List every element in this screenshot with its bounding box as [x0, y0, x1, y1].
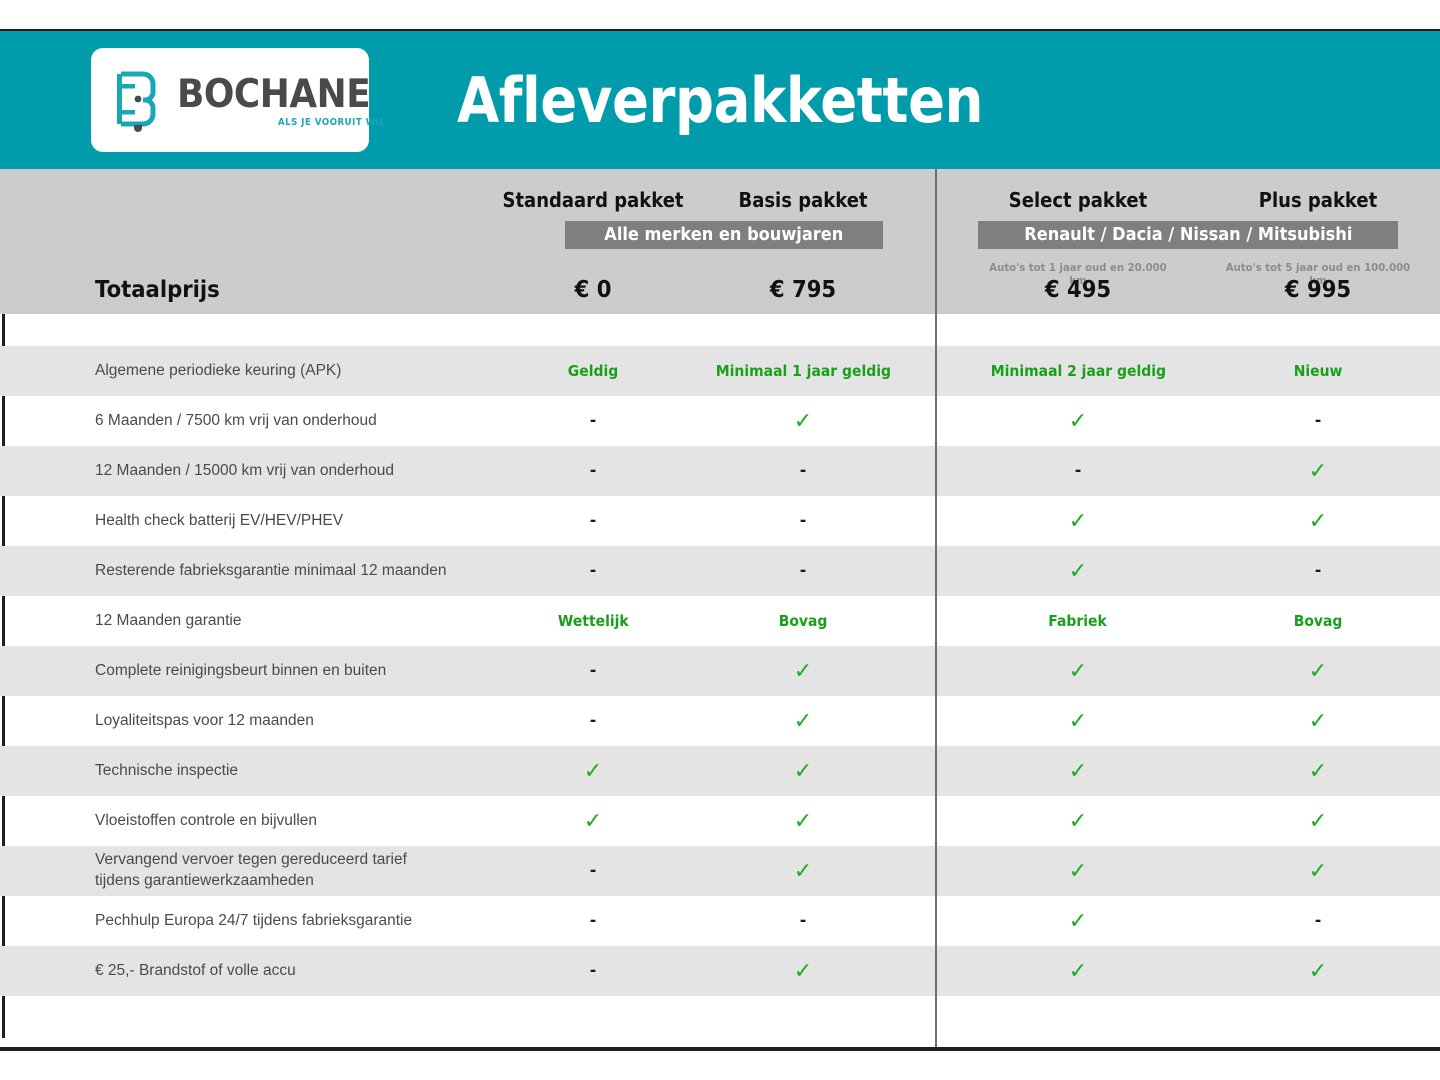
header-banner: BOCHANE ALS JE VOORUIT WIL Afleverpakket…: [0, 31, 1440, 169]
brand-bar-all-makes: Alle merken en bouwjaren: [565, 221, 883, 249]
row-label-line1: Vervangend vervoer tegen gereduceerd tar…: [95, 850, 407, 871]
column-header-basis: Basis pakket: [710, 188, 895, 212]
cell-dash: -: [490, 396, 696, 446]
row-label: Technische inspectie: [95, 746, 238, 796]
cell-value: Nieuw: [1215, 346, 1421, 396]
table-row: 6 Maanden / 7500 km vrij van onderhoud-✓…: [0, 396, 1440, 446]
table-row: € 25,- Brandstof of volle accu-✓✓✓: [0, 946, 1440, 996]
cell-check-icon: ✓: [1215, 746, 1421, 796]
cell-value: Fabriek: [975, 596, 1181, 646]
cell-text: ✓: [1069, 859, 1087, 884]
row-label: 12 Maanden / 15000 km vrij van onderhoud: [95, 446, 394, 496]
cell-text: ✓: [1069, 809, 1087, 834]
cell-check-icon: ✓: [975, 646, 1181, 696]
column-header-select: Select pakket: [985, 188, 1170, 212]
table-row: Algemene periodieke keuring (APK)GeldigM…: [0, 346, 1440, 396]
left-tick-mark: [2, 396, 5, 446]
cell-text: ✓: [1309, 809, 1327, 834]
cell-check-icon: ✓: [1215, 646, 1421, 696]
table-row: Vloeistoffen controle en bijvullen✓✓✓✓: [0, 796, 1440, 846]
cell-text: -: [1315, 910, 1321, 932]
spacer-row: [0, 314, 1440, 346]
cell-text: ✓: [794, 959, 812, 984]
row-label-text: 12 Maanden / 15000 km vrij van onderhoud: [95, 461, 394, 482]
cell-dash: -: [490, 846, 696, 896]
cell-text: ✓: [1069, 409, 1087, 434]
cell-check-icon: ✓: [700, 696, 906, 746]
cell-text: ✓: [1069, 909, 1087, 934]
cell-text: -: [1315, 560, 1321, 582]
cell-dash: -: [490, 546, 696, 596]
row-label: Health check batterij EV/HEV/PHEV: [95, 496, 343, 546]
row-label-line2: tijdens garantiewerkzaamheden: [95, 871, 407, 892]
cell-dash: -: [490, 446, 696, 496]
cell-value: Bovag: [700, 596, 906, 646]
row-label-text: Technische inspectie: [95, 761, 238, 782]
feature-rows: Algemene periodieke keuring (APK)GeldigM…: [0, 346, 1440, 996]
column-header-standaard: Standaard pakket: [500, 188, 685, 212]
cell-check-icon: ✓: [975, 396, 1181, 446]
left-tick-mark: [2, 696, 5, 746]
cell-check-icon: ✓: [490, 746, 696, 796]
cell-dash: -: [490, 646, 696, 696]
row-label: Algemene periodieke keuring (APK): [95, 346, 341, 396]
row-label-text: Pechhulp Europa 24/7 tijdens fabrieksgar…: [95, 911, 412, 932]
cell-text: -: [590, 660, 596, 682]
cell-text: ✓: [1309, 859, 1327, 884]
cell-text: -: [800, 560, 806, 582]
row-label-text: € 25,- Brandstof of volle accu: [95, 961, 296, 982]
left-tick-mark: [2, 996, 5, 1038]
cell-text: ✓: [1309, 709, 1327, 734]
row-label: Vervangend vervoer tegen gereduceerd tar…: [95, 846, 407, 896]
cell-text: Geldig: [568, 362, 618, 380]
cell-text: ✓: [1309, 959, 1327, 984]
row-label: Complete reinigingsbeurt binnen en buite…: [95, 646, 386, 696]
cell-check-icon: ✓: [700, 646, 906, 696]
cell-text: Fabriek: [1049, 612, 1108, 630]
row-label-text: 6 Maanden / 7500 km vrij van onderhoud: [95, 411, 377, 432]
cell-value: Geldig: [490, 346, 696, 396]
price-basis: € 795: [700, 277, 906, 303]
cell-dash: -: [1215, 396, 1421, 446]
cell-check-icon: ✓: [700, 846, 906, 896]
row-label-text: Health check batterij EV/HEV/PHEV: [95, 511, 343, 532]
poster-sheet: BOCHANE ALS JE VOORUIT WIL Afleverpakket…: [0, 0, 1440, 1080]
cell-dash: -: [1215, 896, 1421, 946]
cell-text: -: [590, 860, 596, 882]
cell-text: -: [590, 410, 596, 432]
cell-check-icon: ✓: [975, 496, 1181, 546]
row-label: € 25,- Brandstof of volle accu: [95, 946, 296, 996]
cell-text: Bovag: [779, 612, 828, 630]
cell-check-icon: ✓: [1215, 946, 1421, 996]
left-tick-mark: [2, 796, 5, 846]
cell-check-icon: ✓: [1215, 846, 1421, 896]
table-row: Health check batterij EV/HEV/PHEV--✓✓: [0, 496, 1440, 546]
table-row: 12 Maanden / 15000 km vrij van onderhoud…: [0, 446, 1440, 496]
cell-dash: -: [700, 446, 906, 496]
cell-text: Minimaal 1 jaar geldig: [715, 362, 890, 380]
bottom-closing-row: [0, 996, 1440, 1038]
cell-text: ✓: [794, 809, 812, 834]
cell-check-icon: ✓: [975, 796, 1181, 846]
cell-text: ✓: [584, 809, 602, 834]
cell-text: -: [590, 710, 596, 732]
cell-text: -: [590, 560, 596, 582]
cell-check-icon: ✓: [975, 896, 1181, 946]
cell-check-icon: ✓: [490, 796, 696, 846]
cell-check-icon: ✓: [975, 746, 1181, 796]
table-header-band: Standaard pakket Basis pakket Select pak…: [0, 169, 1440, 314]
left-tick-mark: [2, 596, 5, 646]
table-row: Loyaliteitspas voor 12 maanden-✓✓✓: [0, 696, 1440, 746]
cell-check-icon: ✓: [1215, 446, 1421, 496]
cell-text: ✓: [794, 709, 812, 734]
cell-text: ✓: [1069, 759, 1087, 784]
cell-value: Minimaal 1 jaar geldig: [700, 346, 906, 396]
cell-text: ✓: [1309, 659, 1327, 684]
row-label-text: Algemene periodieke keuring (APK): [95, 361, 341, 382]
cell-text: ✓: [584, 759, 602, 784]
cell-dash: -: [700, 896, 906, 946]
cell-text: -: [590, 510, 596, 532]
cell-text: -: [1075, 460, 1081, 482]
bottom-margin: [0, 1051, 1440, 1080]
cell-text: ✓: [794, 409, 812, 434]
cell-value: Wettelijk: [490, 596, 696, 646]
group-divider-body: [935, 314, 937, 1049]
row-label-text: Resterende fabrieksgarantie minimaal 12 …: [95, 561, 447, 582]
cell-check-icon: ✓: [1215, 696, 1421, 746]
cell-check-icon: ✓: [975, 946, 1181, 996]
price-select: € 495: [975, 277, 1181, 303]
cell-text: -: [800, 460, 806, 482]
left-tick-mark: [2, 496, 5, 546]
table-row: Vervangend vervoer tegen gereduceerd tar…: [0, 846, 1440, 896]
top-margin: [0, 0, 1440, 29]
table-row: Technische inspectie✓✓✓✓: [0, 746, 1440, 796]
cell-text: -: [1315, 410, 1321, 432]
row-label: 6 Maanden / 7500 km vrij van onderhoud: [95, 396, 377, 446]
totaalprijs-label: Totaalprijs: [95, 277, 220, 303]
page-title: Afleverpakketten: [86, 31, 1353, 169]
cell-check-icon: ✓: [1215, 796, 1421, 846]
row-label: Vloeistoffen controle en bijvullen: [95, 796, 317, 846]
cell-dash: -: [975, 446, 1181, 496]
cell-text: ✓: [1069, 509, 1087, 534]
price-standaard: € 0: [490, 277, 696, 303]
row-label: 12 Maanden garantie: [95, 596, 242, 646]
left-tick-mark: [2, 896, 5, 946]
cell-text: ✓: [1069, 559, 1087, 584]
table-row: Pechhulp Europa 24/7 tijdens fabrieksgar…: [0, 896, 1440, 946]
cell-text: ✓: [1309, 459, 1327, 484]
cell-text: ✓: [794, 659, 812, 684]
group-divider-header: [935, 169, 937, 314]
cell-text: Nieuw: [1294, 362, 1343, 380]
cell-text: ✓: [794, 859, 812, 884]
cell-text: Bovag: [1294, 612, 1343, 630]
cell-dash: -: [490, 896, 696, 946]
table-row: Complete reinigingsbeurt binnen en buite…: [0, 646, 1440, 696]
left-tick-mark: [2, 314, 5, 346]
cell-check-icon: ✓: [975, 846, 1181, 896]
row-label-text: Complete reinigingsbeurt binnen en buite…: [95, 661, 386, 682]
cell-dash: -: [490, 696, 696, 746]
cell-value: Minimaal 2 jaar geldig: [975, 346, 1181, 396]
cell-text: -: [800, 910, 806, 932]
column-header-plus: Plus pakket: [1225, 188, 1410, 212]
cell-check-icon: ✓: [1215, 496, 1421, 546]
packages-table: Standaard pakket Basis pakket Select pak…: [0, 169, 1440, 1049]
cell-text: -: [590, 910, 596, 932]
cell-check-icon: ✓: [975, 546, 1181, 596]
row-label: Resterende fabrieksgarantie minimaal 12 …: [95, 546, 447, 596]
row-label-text: Vloeistoffen controle en bijvullen: [95, 811, 317, 832]
brand-bar-renault-group: Renault / Dacia / Nissan / Mitsubishi: [978, 221, 1398, 249]
cell-dash: -: [1215, 546, 1421, 596]
cell-check-icon: ✓: [700, 746, 906, 796]
cell-check-icon: ✓: [975, 696, 1181, 746]
table-row: Resterende fabrieksgarantie minimaal 12 …: [0, 546, 1440, 596]
cell-text: -: [590, 960, 596, 982]
row-label-text: Loyaliteitspas voor 12 maanden: [95, 711, 314, 732]
cell-dash: -: [700, 546, 906, 596]
cell-check-icon: ✓: [700, 946, 906, 996]
cell-value: Bovag: [1215, 596, 1421, 646]
cell-text: Wettelijk: [558, 612, 629, 630]
row-label-text: 12 Maanden garantie: [95, 611, 242, 632]
row-label: Pechhulp Europa 24/7 tijdens fabrieksgar…: [95, 896, 412, 946]
cell-dash: -: [700, 496, 906, 546]
cell-dash: -: [490, 496, 696, 546]
cell-text: -: [800, 510, 806, 532]
table-row: 12 Maanden garantieWettelijkBovagFabriek…: [0, 596, 1440, 646]
cell-dash: -: [490, 946, 696, 996]
cell-text: Minimaal 2 jaar geldig: [990, 362, 1165, 380]
cell-check-icon: ✓: [700, 396, 906, 446]
cell-text: ✓: [1069, 709, 1087, 734]
cell-check-icon: ✓: [700, 796, 906, 846]
cell-text: ✓: [1069, 659, 1087, 684]
cell-text: ✓: [794, 759, 812, 784]
cell-text: ✓: [1309, 509, 1327, 534]
cell-text: -: [590, 460, 596, 482]
cell-text: ✓: [1309, 759, 1327, 784]
cell-text: ✓: [1069, 959, 1087, 984]
row-label: Loyaliteitspas voor 12 maanden: [95, 696, 314, 746]
price-plus: € 995: [1215, 277, 1421, 303]
